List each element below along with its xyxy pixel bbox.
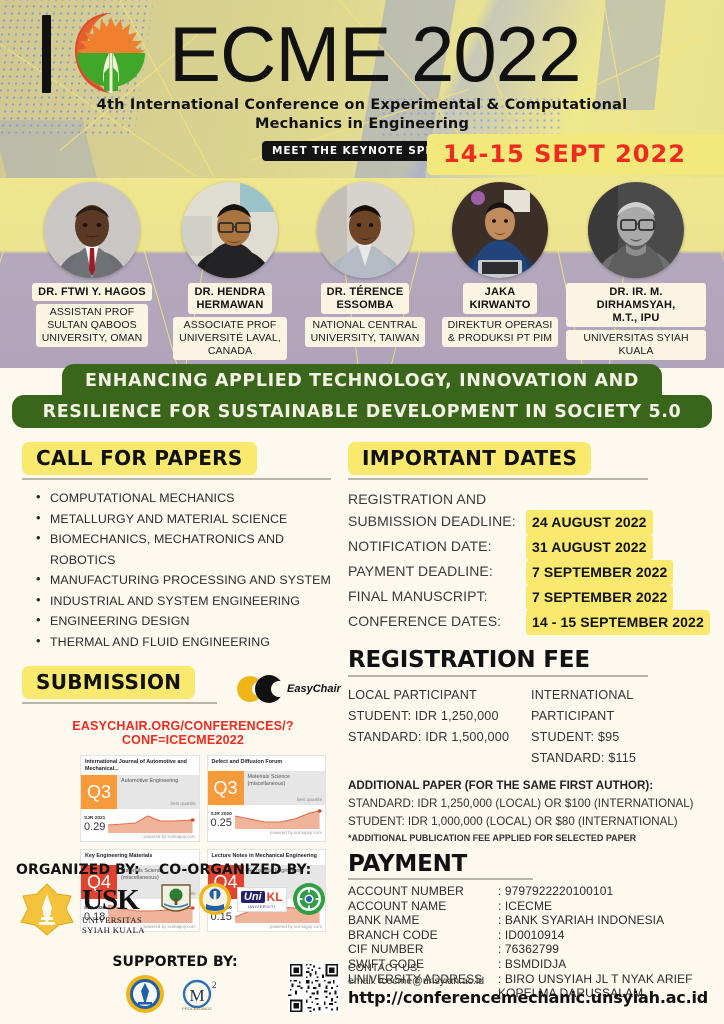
payment-value: : ICECME [498, 899, 714, 914]
date-value: 24 AUGUST 2022 [526, 510, 653, 535]
usk-logo: USK UNIVERSITAS SYIAH KUALA [16, 882, 145, 938]
journal-title: Defect and Diffusion Forum [208, 756, 326, 771]
poster-body: CALL FOR PAPERS COMPUTATIONAL MECHANICS … [0, 428, 724, 442]
organizer-row: ORGANIZED BY: USK UNIVERSITAS SYIAH KUAL… [0, 862, 344, 938]
payment-key: ACCOUNT NAME [348, 899, 498, 914]
date-label: FINAL MANUSCRIPT: [348, 585, 526, 607]
conference-date-badge: 14-15 SEPT 2022 [427, 134, 724, 175]
svg-text:PROCEEDINGS: PROCEEDINGS [182, 1006, 212, 1011]
easychair-c-icon [255, 675, 283, 703]
date-value: 14 - 15 SEPTEMBER 2022 [526, 610, 710, 635]
svg-text:2: 2 [212, 980, 217, 990]
payment-row: BANK NAME : BANK SYARIAH INDONESIA [348, 913, 714, 928]
avatar [317, 182, 413, 278]
list-item: BIOMECHANICS, MECHATRONICS AND ROBOTICS [36, 529, 344, 570]
speaker-card: DR. IR. M. DIRHAMSYAH, M.T., IPU UNIVERS… [566, 182, 706, 360]
speaker-name: DR. TÉRENCE ESSOMBA [321, 283, 410, 314]
intl-standard-fee: STANDARD: $115 [531, 748, 714, 769]
journal-best-quartile: best quartile [297, 796, 322, 803]
organized-by-heading: ORGANIZED BY: [16, 862, 145, 878]
date-label: CONFERENCE DATES: [348, 610, 526, 632]
svg-text:M: M [189, 986, 204, 1005]
submission-title: SUBMISSION [22, 666, 195, 699]
left-column: CALL FOR PAPERS COMPUTATIONAL MECHANICS … [22, 442, 344, 932]
payment-value: : ID0010914 [498, 928, 714, 943]
journal-quartile-badge: Q3 [208, 771, 244, 805]
local-standard-fee: STANDARD: IDR 1,500,000 [348, 727, 531, 748]
publication-fee-note: *ADDITIONAL PUBLICATION FEE APPLIED FOR … [348, 833, 714, 843]
important-dates-title: IMPORTANT DATES [348, 442, 591, 475]
date-label: SUBMISSION DEADLINE: [348, 510, 526, 532]
call-for-papers-title: CALL FOR PAPERS [22, 442, 257, 475]
list-item: MANUFACTURING PROCESSING AND SYSTEM [36, 570, 344, 591]
subtitle-line-2: Mechanics in Engineering [0, 115, 724, 134]
additional-student-fee: STUDENT: IDR 1,000,000 (LOCAL) OR $80 (I… [348, 813, 714, 831]
speaker-affiliation: DIREKTUR OPERASI & PRODUKSI PT PIM [442, 317, 559, 347]
theme-line-2: RESILIENCE FOR SUSTAINABLE DEVELOPMENT I… [12, 395, 712, 428]
additional-standard-fee: STANDARD: IDR 1,250,000 (LOCAL) OR $100 … [348, 795, 714, 813]
list-item: THERMAL AND FLUID ENGINEERING [36, 632, 344, 653]
keynote-speakers-section: DR. FTWI Y. HAGOS ASSISTAN PROF SULTAN Q… [0, 178, 724, 368]
speaker-name: DR. IR. M. DIRHAMSYAH, M.T., IPU [566, 283, 706, 327]
journal-category: Materials Science (miscellaneous) [248, 774, 291, 787]
contact-text: CONTACT US: email: icecme@unsyiah.ac.id … [348, 962, 708, 1008]
payment-row: CIF NUMBER : 76362799 [348, 942, 714, 957]
journal-sparkline [108, 811, 195, 833]
speaker-card: DR. FTWI Y. HAGOS ASSISTAN PROF SULTAN Q… [22, 182, 162, 347]
speaker-affiliation: UNIVERSITAS SYIAH KUALA [566, 330, 706, 360]
journal-sjr-value: 0.25 [211, 817, 232, 829]
submission-url-link[interactable]: EASYCHAIR.ORG/CONFERENCES/?CONF=ICECME20… [22, 719, 344, 747]
list-item: METALLURGY AND MATERIAL SCIENCE [36, 509, 344, 530]
date-value: 31 AUGUST 2022 [526, 535, 653, 560]
unikl-kl-text: KL [265, 890, 283, 904]
journal-sparkline [235, 807, 322, 829]
supporter-logo-1-icon [125, 974, 165, 1014]
call-for-papers-rule [22, 478, 331, 480]
dates-intro-label: REGISTRATION AND [348, 488, 526, 510]
usk-abbreviation: USK [82, 886, 145, 915]
list-item: INDUSTRIAL AND SYSTEM ENGINEERING [36, 591, 344, 612]
topics-list: COMPUTATIONAL MECHANICS METALLURGY AND M… [36, 488, 344, 652]
speaker-card: JAKA KIRWANTO DIREKTUR OPERASI & PRODUKS… [430, 182, 570, 347]
additional-paper-heading: ADDITIONAL PAPER (FOR THE SAME FIRST AUT… [348, 777, 714, 795]
date-label: NOTIFICATION DATE: [348, 535, 526, 557]
conference-logo: ECME 2022 [42, 8, 581, 100]
journal-sjr-value: 0.29 [84, 821, 105, 833]
speaker-name: JAKA KIRWANTO [463, 283, 536, 314]
avatar [452, 182, 548, 278]
dates-intro-row: REGISTRATION AND [348, 488, 714, 510]
date-value: 7 SEPTEMBER 2022 [526, 585, 673, 610]
speaker-name: DR. HENDRA HERMAWAN [188, 283, 271, 314]
international-fee-column: INTERNATIONAL PARTICIPANT STUDENT: $95 S… [531, 685, 714, 769]
usk-text-block: USK UNIVERSITAS SYIAH KUALA [82, 886, 145, 935]
local-fee-column: LOCAL PARTICIPANT STUDENT: IDR 1,250,000… [348, 685, 531, 769]
avatar [588, 182, 684, 278]
intl-heading: INTERNATIONAL PARTICIPANT [531, 685, 714, 727]
registration-fee-rule [348, 675, 648, 677]
co-organizer-logo-2-icon [198, 882, 232, 916]
local-student-fee: STUDENT: IDR 1,250,000 [348, 706, 531, 727]
theme-line-1: ENHANCING APPLIED TECHNOLOGY, INNOVATION… [62, 364, 662, 397]
logo-wordmark: ECME 2022 [169, 15, 581, 93]
payment-value: : 76362799 [498, 942, 714, 957]
avatar [182, 182, 278, 278]
journal-title: International Journal of Automotive and … [81, 756, 199, 775]
usk-emblem-icon [16, 882, 78, 938]
speaker-affiliation: ASSISTAN PROF SULTAN QABOOS UNIVERSITY, … [36, 304, 149, 347]
payment-key: CIF NUMBER [348, 942, 498, 957]
local-heading: LOCAL PARTICIPANT [348, 685, 531, 706]
date-row: SUBMISSION DEADLINE: 24 AUGUST 2022 [348, 510, 714, 535]
payment-rule [348, 878, 533, 880]
speaker-card: DR. HENDRA HERMAWAN ASSOCIATE PROF UNIVE… [160, 182, 300, 360]
fee-columns: LOCAL PARTICIPANT STUDENT: IDR 1,250,000… [348, 685, 714, 769]
conference-poster: ECME 2022 4th International Conference o… [0, 0, 724, 1024]
usk-name-line-2: SYIAH KUALA [82, 925, 145, 935]
conference-subtitle: 4th International Conference on Experime… [0, 96, 724, 134]
poster-header: ECME 2022 4th International Conference o… [0, 0, 724, 178]
supporter-logo-2-icon: M 2 PROCEEDINGS [179, 976, 225, 1012]
subtitle-line-1: 4th International Conference on Experime… [0, 96, 724, 115]
submission-rule [22, 702, 217, 704]
date-label: PAYMENT DEADLINE: [348, 560, 526, 582]
contact-email: email: icecme@unsyiah.ac.id [348, 975, 708, 988]
payment-title: PAYMENT [348, 851, 714, 877]
avatar [44, 182, 140, 278]
co-organizer-logo-4-icon [292, 882, 326, 916]
journal-powered-by: powered by scimagojr.com [81, 834, 199, 841]
important-dates-rule [348, 478, 648, 480]
date-row: PAYMENT DEADLINE: 7 SEPTEMBER 2022 [348, 560, 714, 585]
speaker-affiliation: ASSOCIATE PROF UNIVERSITÉ LAVAL, CANADA [173, 317, 287, 360]
journal-powered-by: powered by scimagojr.com [208, 830, 326, 837]
payment-row: BRANCH CODE : ID0010914 [348, 928, 714, 943]
logo-letter-i-bar [42, 15, 51, 93]
conference-theme-banner: ENHANCING APPLIED TECHNOLOGY, INNOVATION… [0, 364, 724, 428]
journal-best-quartile: best quartile [170, 800, 195, 807]
usk-name-line-1: UNIVERSITAS [82, 915, 145, 925]
payment-value: : BANK SYARIAH INDONESIA [498, 913, 714, 928]
submission-header: SUBMISSION EasyChair [22, 666, 344, 712]
icecme-emblem-icon [63, 7, 159, 101]
easychair-logo: EasyChair [237, 675, 341, 703]
unikl-logo: Uni KL UNIVERSITI [237, 887, 287, 912]
unikl-subtext: UNIVERSITI [241, 904, 283, 909]
speaker-name: DR. FTWI Y. HAGOS [32, 283, 152, 301]
qr-code-icon [288, 962, 340, 1014]
speaker-affiliation: NATIONAL CENTRAL UNIVERSITY, TAIWAN [305, 317, 426, 347]
organized-by-block: ORGANIZED BY: USK UNIVERSITAS SYIAH KUAL… [16, 862, 145, 938]
contact-website: http://conferencemechanic.unsyiah.ac.id [348, 988, 708, 1008]
journal-card: International Journal of Automotive and … [80, 755, 200, 842]
co-organized-by-block: CO-ORGANIZED BY: [159, 862, 326, 938]
list-item: COMPUTATIONAL MECHANICS [36, 488, 344, 509]
payment-key: BANK NAME [348, 913, 498, 928]
right-column: IMPORTANT DATES REGISTRATION AND SUBMISS… [348, 442, 714, 1001]
journal-category: Automotive Engineering [121, 778, 178, 784]
intl-student-fee: STUDENT: $95 [531, 727, 714, 748]
date-row: FINAL MANUSCRIPT: 7 SEPTEMBER 2022 [348, 585, 714, 610]
date-row: CONFERENCE DATES: 14 - 15 SEPTEMBER 2022 [348, 610, 714, 635]
payment-row: ACCOUNT NUMBER : 9797922220100101 [348, 884, 714, 899]
payment-key: BRANCH CODE [348, 928, 498, 943]
easychair-label: EasyChair [287, 683, 341, 695]
payment-value: : 9797922220100101 [498, 884, 714, 899]
list-item: ENGINEERING DESIGN [36, 611, 344, 632]
date-value: 7 SEPTEMBER 2022 [526, 560, 673, 585]
date-row: NOTIFICATION DATE: 31 AUGUST 2022 [348, 535, 714, 560]
registration-fee-title: REGISTRATION FEE [348, 647, 714, 673]
contact-block: CONTACT US: email: icecme@unsyiah.ac.id … [288, 962, 724, 1014]
payment-key: ACCOUNT NUMBER [348, 884, 498, 899]
unikl-uni-text: Uni [241, 891, 265, 903]
additional-paper-fees: ADDITIONAL PAPER (FOR THE SAME FIRST AUT… [348, 777, 714, 843]
payment-row: ACCOUNT NAME : ICECME [348, 899, 714, 914]
journal-card: Defect and Diffusion Forum Q3 Materials … [207, 755, 327, 842]
speaker-card: DR. TÉRENCE ESSOMBA NATIONAL CENTRAL UNI… [295, 182, 435, 347]
co-organized-by-heading: CO-ORGANIZED BY: [159, 862, 326, 878]
important-dates-list: REGISTRATION AND SUBMISSION DEADLINE: 24… [348, 488, 714, 635]
co-organizer-logo-1-icon [159, 882, 193, 916]
contact-label: CONTACT US: [348, 962, 708, 975]
co-organizer-logos: Uni KL UNIVERSITI [159, 882, 326, 916]
journal-quartile-badge: Q3 [81, 775, 117, 809]
